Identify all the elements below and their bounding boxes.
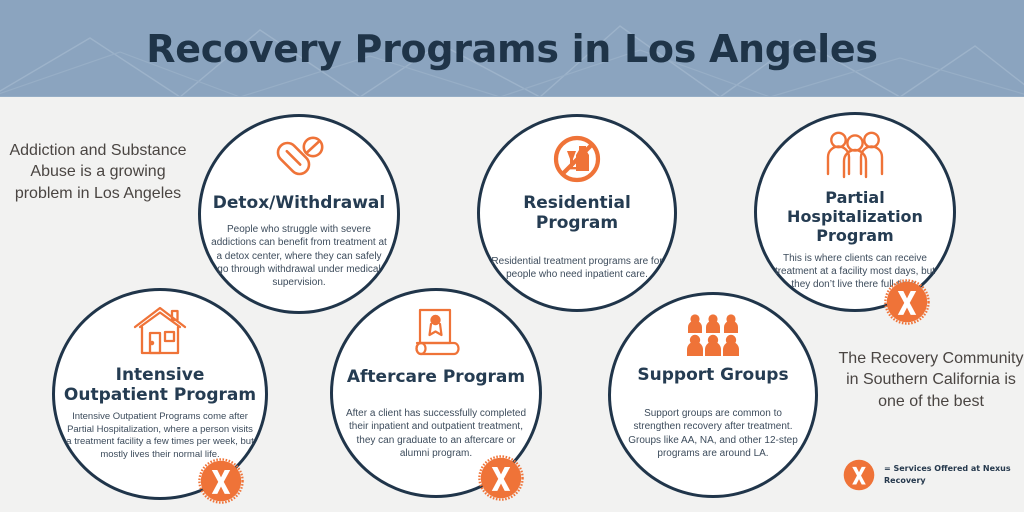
header-band: Recovery Programs in Los Angeles [0,0,1024,97]
certificate-icon [411,305,461,361]
program-title: Intensive Outpatient Program [55,365,265,405]
program-description: People who struggle with severe addictio… [201,223,397,289]
program-title: Support Groups [631,365,794,385]
group-of-six-people-icon [684,311,742,359]
closing-text: The Recovery Community in Southern Calif… [838,348,1024,412]
program-title: Residential Program [480,193,674,233]
program-card-residential[interactable]: Residential Program Residential treatmen… [477,114,677,312]
program-description: Support groups are common to strengthen … [611,407,815,460]
pills-icon [272,131,326,187]
program-title: Aftercare Program [341,367,531,387]
program-title: Detox/Withdrawal [207,193,391,213]
legend: = Services Offered at Nexus Recovery [842,458,1017,492]
no-alcohol-icon [551,131,603,187]
program-title: Partial Hospitalization Program [757,189,953,246]
x-badge-icon-legend [842,458,876,492]
x-badge-icon-php [884,279,930,325]
program-description: Intensive Outpatient Programs come after… [55,411,265,462]
three-people-icon [824,127,886,183]
house-icon [132,303,188,359]
program-description: Residential treatment programs are for p… [480,255,674,282]
program-card-detox[interactable]: Detox/Withdrawal People who struggle wit… [198,114,400,314]
x-badge-icon-iop [198,458,244,504]
program-description: After a client has successfully complete… [333,407,539,460]
x-badge-icon-aftercare [478,455,524,501]
program-card-support-groups[interactable]: Support Groups Support groups are common… [608,292,818,498]
intro-text: Addiction and Substance Abuse is a growi… [8,140,188,204]
legend-label: = Services Offered at Nexus Recovery [884,463,1017,486]
page-title: Recovery Programs in Los Angeles [0,0,1024,97]
infographic-canvas: Recovery Programs in Los Angeles Addicti… [0,0,1024,512]
